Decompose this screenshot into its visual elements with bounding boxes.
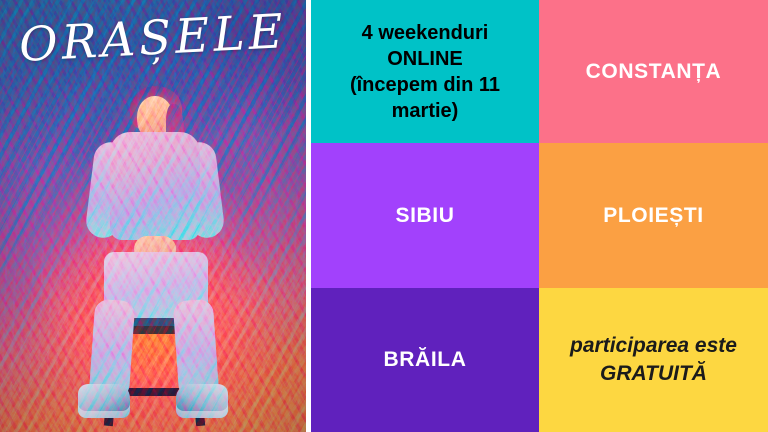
schedule-line-1: 4 weekenduri <box>321 20 529 46</box>
schedule-line-4: martie) <box>321 98 529 124</box>
schedule-line-3: (începem din 11 <box>321 72 529 98</box>
grid-cell-sibiu[interactable]: SIBIU <box>311 143 539 288</box>
city-label-sibiu: SIBIU <box>321 204 529 228</box>
schedule-text: 4 weekenduri ONLINE (începem din 11 mart… <box>321 20 529 124</box>
photo-panel: ORAȘELE <box>0 0 306 432</box>
free-line-1: participarea este <box>549 332 758 360</box>
city-label-ploiesti: PLOIEȘTI <box>549 204 758 228</box>
slide-canvas: ORAȘELE 4 weekenduri ONLINE (începem din… <box>0 0 768 432</box>
city-label-braila: BRĂILA <box>321 348 529 372</box>
city-label-constanta: CONSTANȚA <box>549 60 758 84</box>
grid-cell-braila[interactable]: BRĂILA <box>311 288 539 432</box>
grid-cell-constanta[interactable]: CONSTANȚA <box>539 0 768 143</box>
schedule-line-2: ONLINE <box>321 46 529 72</box>
city-grid: 4 weekenduri ONLINE (începem din 11 mart… <box>311 0 768 432</box>
free-participation-text: participarea este GRATUITĂ <box>549 332 758 389</box>
free-line-2: GRATUITĂ <box>549 360 758 388</box>
grid-cell-ploiesti[interactable]: PLOIEȘTI <box>539 143 768 288</box>
grid-cell-free-participation[interactable]: participarea este GRATUITĂ <box>539 288 768 432</box>
grid-cell-schedule[interactable]: 4 weekenduri ONLINE (începem din 11 mart… <box>311 0 539 143</box>
